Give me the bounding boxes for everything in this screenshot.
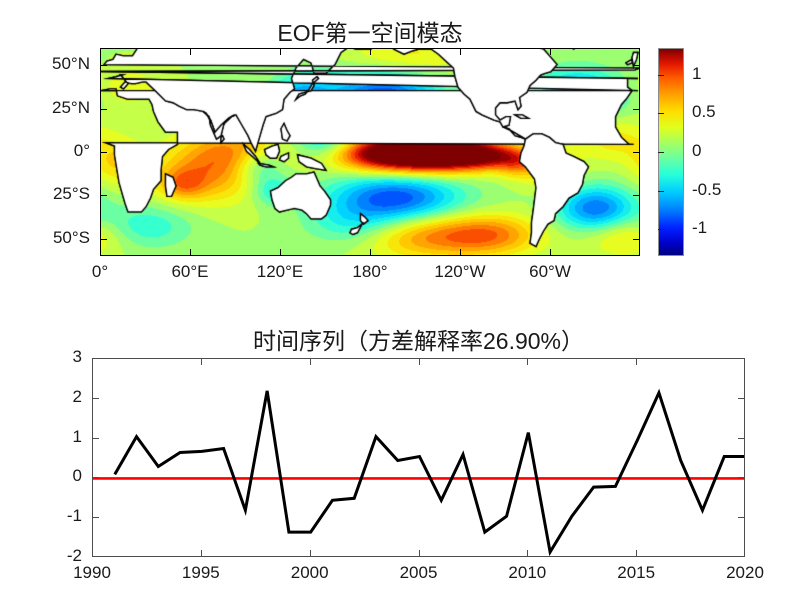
map-ytick-label-0: 50°N — [0, 54, 90, 74]
ts-xtick-label-4: 2010 — [482, 563, 572, 583]
ts-xtick-label-5: 2015 — [591, 563, 681, 583]
map-ytick — [633, 152, 640, 153]
map-ytick — [633, 65, 640, 66]
ts-xtick-label-6: 2020 — [700, 563, 790, 583]
map-xtick — [460, 48, 461, 55]
ts-xtick — [310, 358, 311, 365]
map-xtick-label-2: 120°E — [235, 262, 325, 282]
map-ytick — [100, 152, 107, 153]
map-ytick — [100, 65, 107, 66]
ts-xtick-label-2: 2000 — [265, 563, 355, 583]
map-ytick-label-1: 25°N — [0, 98, 90, 118]
ts-xtick — [419, 550, 420, 557]
ts-ytick-label-5: -2 — [26, 546, 82, 566]
colorbar-tick — [658, 75, 664, 76]
map-xtick-label-1: 60°E — [145, 262, 235, 282]
map-xtick — [280, 48, 281, 55]
ts-ytick-label-0: 3 — [26, 347, 82, 367]
pc1-series-line — [115, 391, 745, 552]
ts-xtick — [310, 550, 311, 557]
ts-xtick — [636, 358, 637, 365]
map-ytick — [633, 109, 640, 110]
colorbar-tick-label-3: -0.5 — [692, 180, 721, 200]
colorbar-tick — [658, 113, 664, 114]
ts-xtick — [527, 550, 528, 557]
map-xtick — [370, 249, 371, 256]
colorbar-tick-label-4: -1 — [692, 218, 707, 238]
ts-ytick — [92, 438, 99, 439]
ts-ytick-label-2: 1 — [26, 427, 82, 447]
ts-xtick — [636, 550, 637, 557]
ts-xtick — [419, 358, 420, 365]
map-ytick — [100, 195, 107, 196]
map-ytick — [633, 195, 640, 196]
ts-xtick-label-3: 2005 — [374, 563, 464, 583]
map-xtick-label-3: 180° — [325, 262, 415, 282]
ts-xtick-label-1: 1995 — [156, 563, 246, 583]
colorbar-tick — [658, 229, 664, 230]
ts-xtick — [201, 358, 202, 365]
ts-ytick — [92, 398, 99, 399]
map-xtick — [370, 48, 371, 55]
map-xtick — [550, 249, 551, 256]
map-ytick — [100, 239, 107, 240]
map-xtick — [280, 249, 281, 256]
ts-ytick — [92, 517, 99, 518]
map-xtick — [550, 48, 551, 55]
timeseries-plot — [92, 358, 745, 557]
ts-ytick-label-3: 0 — [26, 466, 82, 486]
map-ytick-label-3: 25°S — [0, 184, 90, 204]
map-xtick — [190, 48, 191, 55]
map-xtick — [190, 249, 191, 256]
eof-spatial-mode-map — [100, 48, 640, 256]
map-xtick — [460, 249, 461, 256]
colorbar-tick — [658, 191, 664, 192]
ts-ytick-label-1: 2 — [26, 387, 82, 407]
map-title: EOF第一空间模态 — [100, 14, 640, 48]
timeseries-svg — [93, 359, 745, 557]
ts-ytick — [738, 398, 745, 399]
map-xtick-label-0: 0° — [55, 262, 145, 282]
eof-map-canvas — [101, 49, 640, 256]
colorbar-tick-label-1: 0.5 — [692, 102, 716, 122]
colorbar-tick-label-2: 0 — [692, 141, 701, 161]
map-xtick-label-4: 120°W — [415, 262, 505, 282]
colorbar-tick-label-0: 1 — [692, 64, 701, 84]
eof-figure: EOF第一空间模态 时间序列（方差解释率26.90%） 0°60°E120°E1… — [0, 0, 796, 600]
ts-ytick — [92, 477, 99, 478]
ts-xtick — [201, 550, 202, 557]
ts-ytick — [738, 517, 745, 518]
colorbar-tick — [658, 152, 664, 153]
ts-xtick — [527, 358, 528, 365]
map-ytick-label-4: 50°S — [0, 228, 90, 248]
map-xtick-label-5: 60°W — [505, 262, 595, 282]
ts-xtick-label-0: 1990 — [47, 563, 137, 583]
map-ytick — [100, 109, 107, 110]
ts-ytick — [738, 438, 745, 439]
timeseries-title: 时间序列（方差解释率26.90%） — [92, 322, 745, 356]
map-ytick — [633, 239, 640, 240]
ts-ytick — [738, 477, 745, 478]
ts-ytick-label-4: -1 — [26, 506, 82, 526]
map-ytick-label-2: 0° — [0, 141, 90, 161]
